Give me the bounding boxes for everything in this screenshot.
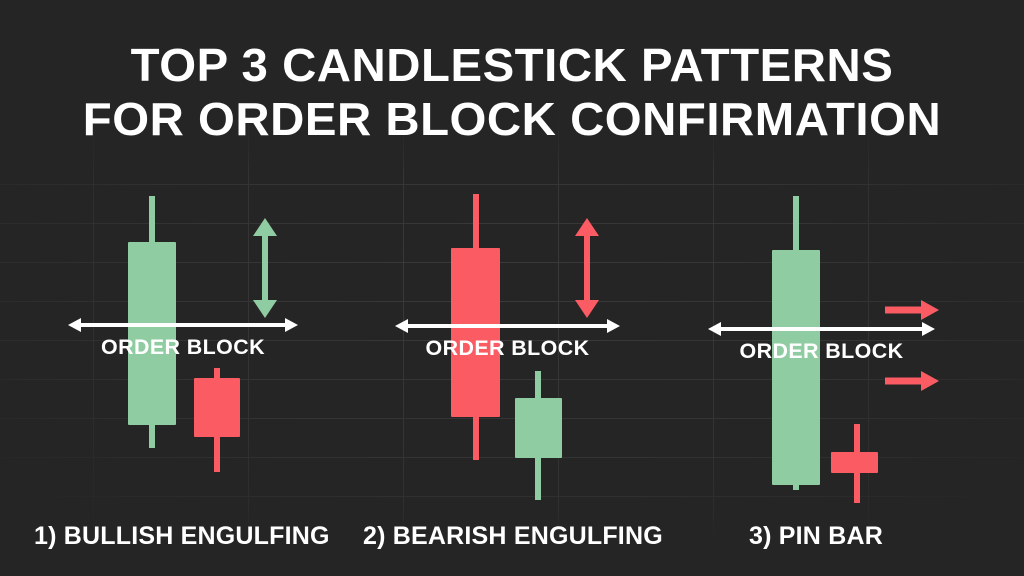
order-block-label: ORDER BLOCK <box>66 336 301 360</box>
title-line-1: TOP 3 CANDLESTICK PATTERNS <box>0 38 1024 92</box>
candle-body <box>515 398 562 458</box>
order-block-range-arrow-icon <box>68 314 298 336</box>
panel-caption-bullish-engulfing: 1) BULLISH ENGULFING <box>34 522 330 551</box>
order-block-range-arrow-icon <box>708 318 935 340</box>
rejection-arrow-lower-icon <box>883 370 939 392</box>
order-block-range-arrow-icon <box>395 315 620 337</box>
candle-body <box>772 250 820 485</box>
order-block-label: ORDER BLOCK <box>393 337 623 361</box>
bearish-impulse-arrow-icon <box>574 218 600 318</box>
page-title: TOP 3 CANDLESTICK PATTERNS FOR ORDER BLO… <box>0 38 1024 146</box>
panel-caption-pin-bar: 3) PIN BAR <box>749 522 883 551</box>
bullish-impulse-arrow-icon <box>252 218 278 318</box>
infographic-canvas: TOP 3 CANDLESTICK PATTERNS FOR ORDER BLO… <box>0 0 1024 576</box>
candle-body <box>831 452 878 473</box>
title-line-2: FOR ORDER BLOCK CONFIRMATION <box>0 92 1024 146</box>
order-block-label: ORDER BLOCK <box>706 340 938 364</box>
panel-caption-bearish-engulfing: 2) BEARISH ENGULFING <box>363 522 663 551</box>
candle-body <box>194 378 240 437</box>
